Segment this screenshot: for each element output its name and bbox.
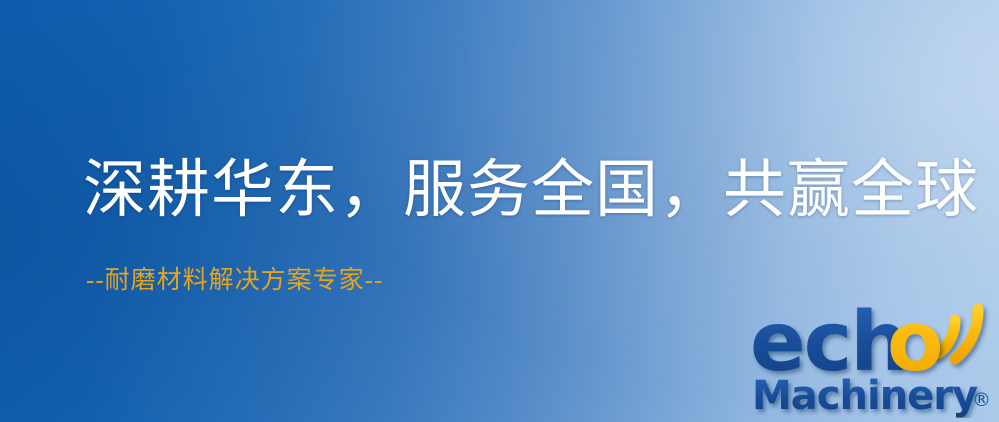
banner-headline: 深耕华东，服务全国，共赢全球 <box>83 152 979 228</box>
hero-banner: 深耕华东，服务全国，共赢全球 --耐磨材料解决方案专家-- <box>0 0 999 422</box>
banner-subtitle: --耐磨材料解决方案专家-- <box>86 266 383 296</box>
logo-tagline: Machinery <box>752 373 978 418</box>
echo-wave-icon <box>938 309 978 359</box>
echo-machinery-logo[interactable]: ech o Machinery ® <box>750 296 996 418</box>
logo-trademark-symbol: ® <box>972 389 991 411</box>
